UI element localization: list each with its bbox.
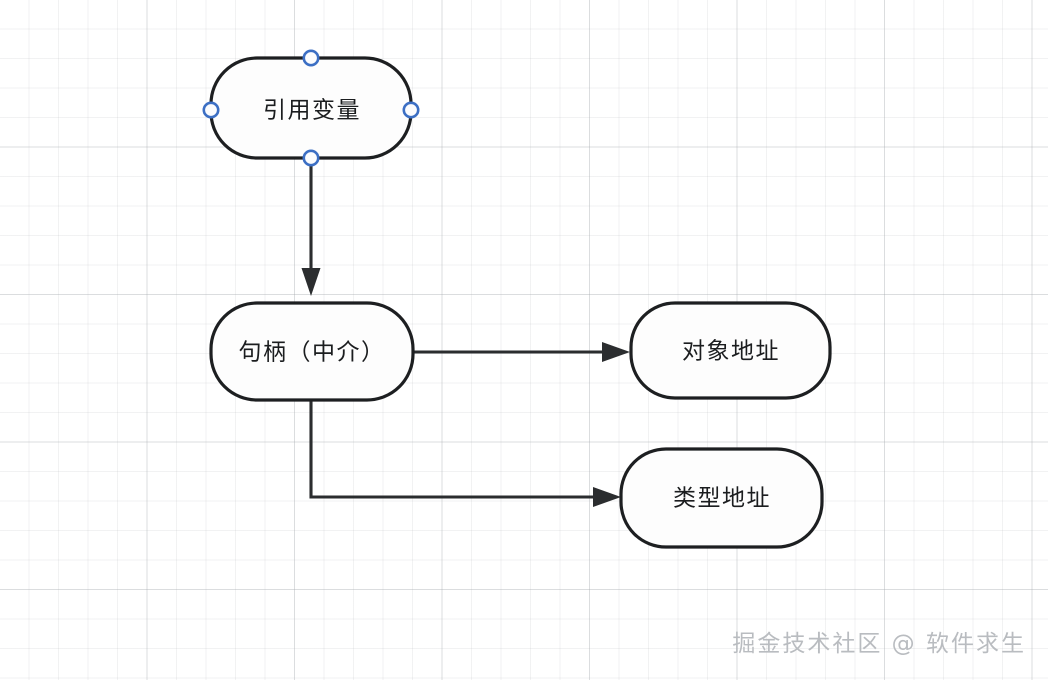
node-ref-var-label: 引用变量: [263, 98, 361, 124]
resize-handle-left[interactable]: [204, 103, 218, 117]
edge-handle-to-type-address[interactable]: [311, 400, 621, 507]
edge-handle-to-object-address[interactable]: [413, 342, 630, 362]
node-ref-var[interactable]: 引用变量: [211, 58, 411, 158]
resize-handle-bottom[interactable]: [304, 151, 318, 165]
edge-ref-var-to-handle[interactable]: [302, 158, 321, 296]
diagram-canvas[interactable]: 引用变量 句柄（中介） 对象地址 类型地址: [0, 0, 1048, 680]
arrowhead-right-icon: [593, 487, 621, 507]
node-object-address-label: 对象地址: [682, 339, 780, 365]
edge-path-elbow: [311, 400, 597, 497]
node-type-address-label: 类型地址: [673, 486, 771, 512]
node-handle-mediator-label: 句柄（中介）: [239, 340, 386, 366]
node-object-address[interactable]: 对象地址: [631, 303, 830, 398]
resize-handle-top[interactable]: [304, 51, 318, 65]
watermark-text: 掘金技术社区 @ 软件求生: [732, 624, 1026, 658]
diagram-svg: 引用变量 句柄（中介） 对象地址 类型地址: [0, 0, 1048, 680]
arrowhead-down-icon: [302, 268, 321, 296]
node-layer: 引用变量 句柄（中介） 对象地址 类型地址: [211, 58, 830, 547]
arrowhead-right-icon: [602, 342, 630, 362]
resize-handle-right[interactable]: [404, 103, 418, 117]
node-handle-mediator[interactable]: 句柄（中介）: [211, 303, 413, 400]
node-type-address[interactable]: 类型地址: [621, 449, 822, 547]
